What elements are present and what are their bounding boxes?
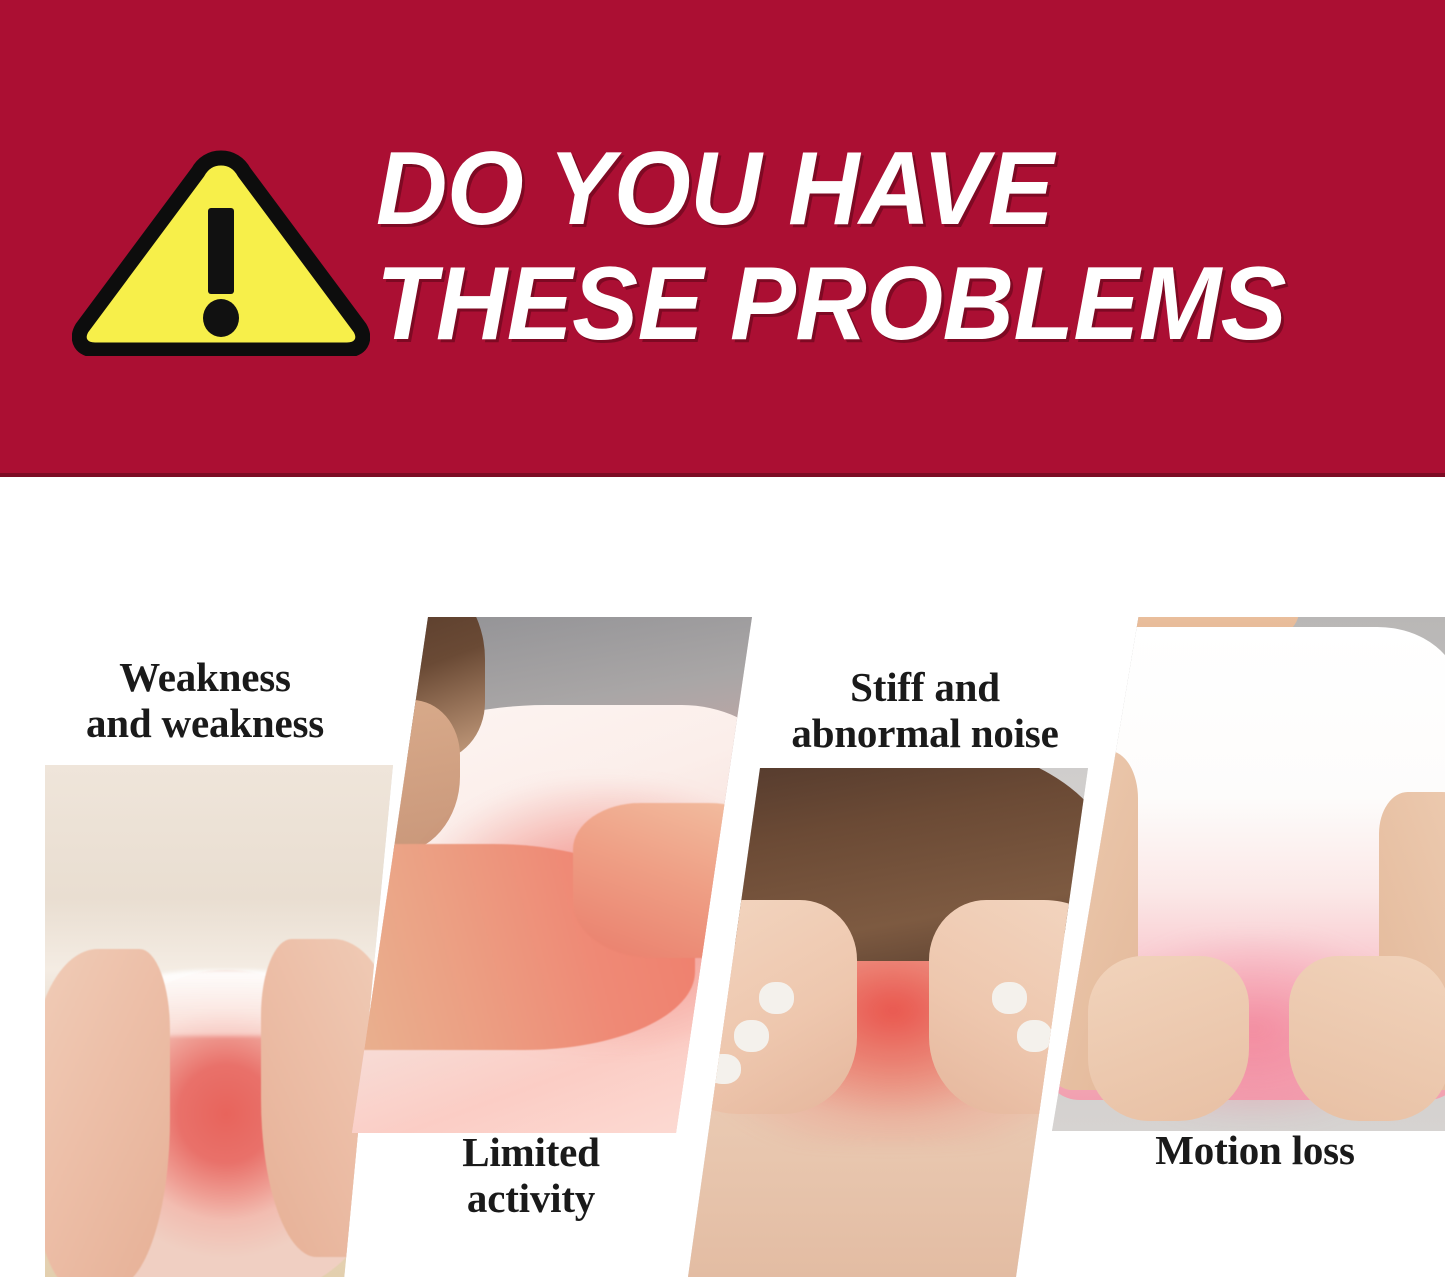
panel-weakness <box>45 765 393 1277</box>
caption-weakness: Weakness and weakness <box>30 655 380 747</box>
caption-limited-activity: Limited activity <box>386 1130 676 1222</box>
caption-motion-loss: Motion loss <box>1090 1128 1420 1174</box>
headline-line-2: THESE PROBLEMS <box>376 255 1364 354</box>
panel-stiff-noise <box>688 768 1088 1277</box>
warning-triangle-icon <box>72 148 370 356</box>
caption-stiff-noise: Stiff and abnormal noise <box>745 665 1105 757</box>
panel-limited-activity <box>352 617 752 1133</box>
headline-line-1: DO YOU HAVE <box>376 140 1364 239</box>
lower-back-pain-photo <box>1052 617 1445 1131</box>
headline: DO YOU HAVE THESE PROBLEMS <box>376 140 1416 354</box>
promo-poster: DO YOU HAVE THESE PROBLEMS <box>0 0 1445 1277</box>
neck-pain-photo <box>688 768 1088 1277</box>
panel-motion-loss <box>1052 617 1445 1131</box>
knee-pain-photo <box>45 765 393 1277</box>
shoulder-pain-photo <box>352 617 752 1133</box>
